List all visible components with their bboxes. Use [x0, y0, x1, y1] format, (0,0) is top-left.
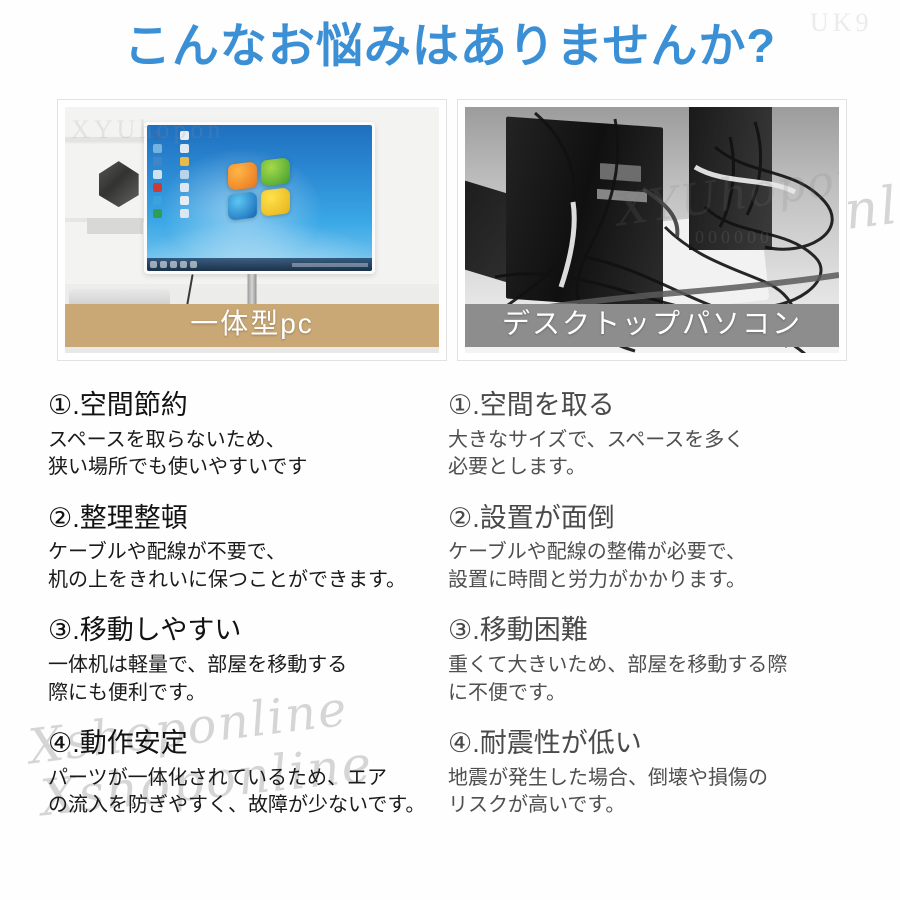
drawback-heading: ①.空間を取る [448, 388, 868, 423]
windows-logo-icon [228, 157, 290, 221]
photo-panels: XYUhopon 一体型pc [0, 99, 900, 364]
benefit-heading: ③.移動しやすい [48, 613, 448, 648]
benefit-heading: ②.整理整頓 [48, 501, 448, 536]
photo-desktop: XYUhoponline 000000 デスクトップパソコン [465, 107, 839, 353]
drawback-heading: ④.耐震性が低い [448, 726, 868, 761]
benefit-heading: ①.空間節約 [48, 388, 448, 423]
drawback-body-line: リスクが高いです。 [448, 792, 868, 820]
benefit-body-line: ケーブルや配線が不要で、 [48, 539, 448, 567]
benefit-heading: ④.動作安定 [48, 726, 448, 761]
drawback-body-line: ケーブルや配線の整備が必要で、 [448, 539, 868, 567]
benefit-body-line: パーツが一体化されているため、エア [48, 765, 448, 793]
system-tray-icon [292, 263, 369, 267]
taskbar-icon [147, 258, 373, 271]
column-all-in-one-benefits: ①.空間節約 スペースを取らないため、 狭い場所でも使いやすいです ②.整理整頓… [48, 388, 448, 820]
drawback-body-line: 設置に時間と労力がかかります。 [448, 567, 868, 595]
drawback-heading: ③.移動困難 [448, 613, 868, 648]
benefit-body: スペースを取らないため、 狭い場所でも使いやすいです [48, 427, 448, 482]
drawback-heading: ②.設置が面倒 [448, 501, 868, 536]
monitor-icon [144, 122, 376, 275]
benefit-body: 一体机は軽量で、部屋を移動する 際にも便利です。 [48, 652, 448, 707]
desktop-screen-icon [147, 125, 373, 272]
drawback-body: ケーブルや配線の整備が必要で、 設置に時間と労力がかかります。 [448, 539, 868, 594]
drawback-body: 大きなサイズで、スペースを多く 必要とします。 [448, 427, 868, 482]
panel-caption-all-in-one: 一体型pc [65, 304, 439, 347]
benefit-item: ①.空間節約 スペースを取らないため、 狭い場所でも使いやすいです [48, 388, 448, 482]
page-title: こんなお悩みはありませんか? [0, 22, 900, 69]
benefit-body-line: スペースを取らないため、 [48, 427, 448, 455]
decor-base-icon [87, 218, 143, 234]
photo-all-in-one: XYUhopon 一体型pc [65, 107, 439, 353]
benefit-body-line: 際にも便利です。 [48, 680, 448, 708]
benefit-body-line: 机の上をきれいに保つことができます。 [48, 567, 448, 595]
drawback-body-line: 必要とします。 [448, 454, 868, 482]
decor-object-icon [99, 161, 139, 207]
column-desktop-drawbacks: ①.空間を取る 大きなサイズで、スペースを多く 必要とします。 ②.設置が面倒 … [448, 388, 868, 820]
drawback-item: ②.設置が面倒 ケーブルや配線の整備が必要で、 設置に時間と労力がかかります。 [448, 501, 868, 595]
drawback-item: ①.空間を取る 大きなサイズで、スペースを多く 必要とします。 [448, 388, 868, 482]
drawback-body-line: 重くて大きいため、部屋を移動する際 [448, 652, 868, 680]
drawback-item: ④.耐震性が低い 地震が発生した場合、倒壊や損傷の リスクが高いです。 [448, 726, 868, 820]
benefit-body-line: 一体机は軽量で、部屋を移動する [48, 652, 448, 680]
drawback-body: 重くて大きいため、部屋を移動する際 に不便です。 [448, 652, 868, 707]
infographic-page: Xshoponline Xshoponline UK9 こんなお悩みはありません… [0, 0, 900, 900]
benefit-item: ④.動作安定 パーツが一体化されているため、エア の流入を防ぎやすく、故障が少な… [48, 726, 448, 820]
drawback-body-line: 大きなサイズで、スペースを多く [448, 427, 868, 455]
benefit-body: ケーブルや配線が不要で、 机の上をきれいに保つことができます。 [48, 539, 448, 594]
drawback-body-line: 地震が発生した場合、倒壊や損傷の [448, 765, 868, 793]
drawback-item: ③.移動困難 重くて大きいため、部屋を移動する際 に不便です。 [448, 613, 868, 707]
panel-caption-desktop: デスクトップパソコン [465, 304, 839, 347]
drawback-body-line: に不便です。 [448, 680, 868, 708]
panel-desktop: XYUhoponline 000000 デスクトップパソコン [457, 99, 847, 361]
benefit-body-line: の流入を防ぎやすく、故障が少ないです。 [48, 792, 448, 820]
desktop-icons-icon [153, 131, 203, 218]
benefit-item: ③.移動しやすい 一体机は軽量で、部屋を移動する 際にも便利です。 [48, 613, 448, 707]
panel-all-in-one: XYUhopon 一体型pc [57, 99, 447, 361]
benefit-body: パーツが一体化されているため、エア の流入を防ぎやすく、故障が少ないです。 [48, 765, 448, 820]
benefit-item: ②.整理整頓 ケーブルや配線が不要で、 机の上をきれいに保つことができます。 [48, 501, 448, 595]
benefit-body-line: 狭い場所でも使いやすいです [48, 454, 448, 482]
drawback-body: 地震が発生した場合、倒壊や損傷の リスクが高いです。 [448, 765, 868, 820]
